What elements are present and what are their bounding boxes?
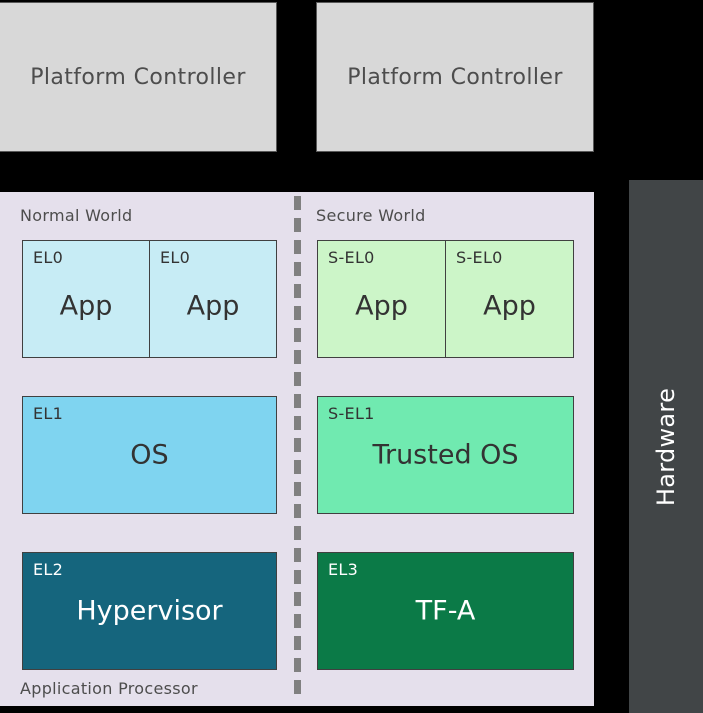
application-processor-label: Application Processor <box>20 679 198 698</box>
box-title: Hypervisor <box>23 596 276 627</box>
secure-world-label: Secure World <box>316 206 426 225</box>
box-title: Trusted OS <box>318 440 573 471</box>
normal-world-el0-app-box-2: EL0 App <box>149 240 277 358</box>
box-title: App <box>318 290 445 321</box>
secure-world-sel1-trusted-os-box: S-EL1 Trusted OS <box>317 396 574 514</box>
normal-world-label: Normal World <box>20 206 132 225</box>
exception-level-tag: EL0 <box>33 248 63 267</box>
secure-world-el3-tfa-box: EL3 TF-A <box>317 552 574 670</box>
exception-level-tag: S-EL1 <box>328 404 375 423</box>
exception-level-tag: S-EL0 <box>456 248 503 267</box>
exception-level-tag: EL0 <box>160 248 190 267</box>
box-title: App <box>446 290 573 321</box>
normal-world-el0-app-box-1: EL0 App <box>22 240 150 358</box>
exception-level-tag: S-EL0 <box>328 248 375 267</box>
world-divider-dashed-line <box>294 196 301 702</box>
box-title: App <box>23 290 149 321</box>
box-title: OS <box>23 440 276 471</box>
platform-controller-label: Platform Controller <box>30 65 246 90</box>
architecture-diagram: Platform Controller Platform Controller … <box>0 0 703 713</box>
box-title: TF-A <box>318 596 573 627</box>
normal-world-el1-os-box: EL1 OS <box>22 396 277 514</box>
platform-controller-box-2: Platform Controller <box>316 2 594 152</box>
platform-controller-box-1: Platform Controller <box>0 2 277 152</box>
exception-level-tag: EL2 <box>33 560 63 579</box>
box-title: App <box>150 290 276 321</box>
hardware-panel: Hardware <box>629 180 703 713</box>
secure-world-sel0-app-box-2: S-EL0 App <box>445 240 574 358</box>
exception-level-tag: EL3 <box>328 560 358 579</box>
hardware-label: Hardware <box>652 387 680 505</box>
exception-level-tag: EL1 <box>33 404 63 423</box>
normal-world-el2-hypervisor-box: EL2 Hypervisor <box>22 552 277 670</box>
platform-controller-label: Platform Controller <box>347 65 563 90</box>
secure-world-sel0-app-box-1: S-EL0 App <box>317 240 446 358</box>
